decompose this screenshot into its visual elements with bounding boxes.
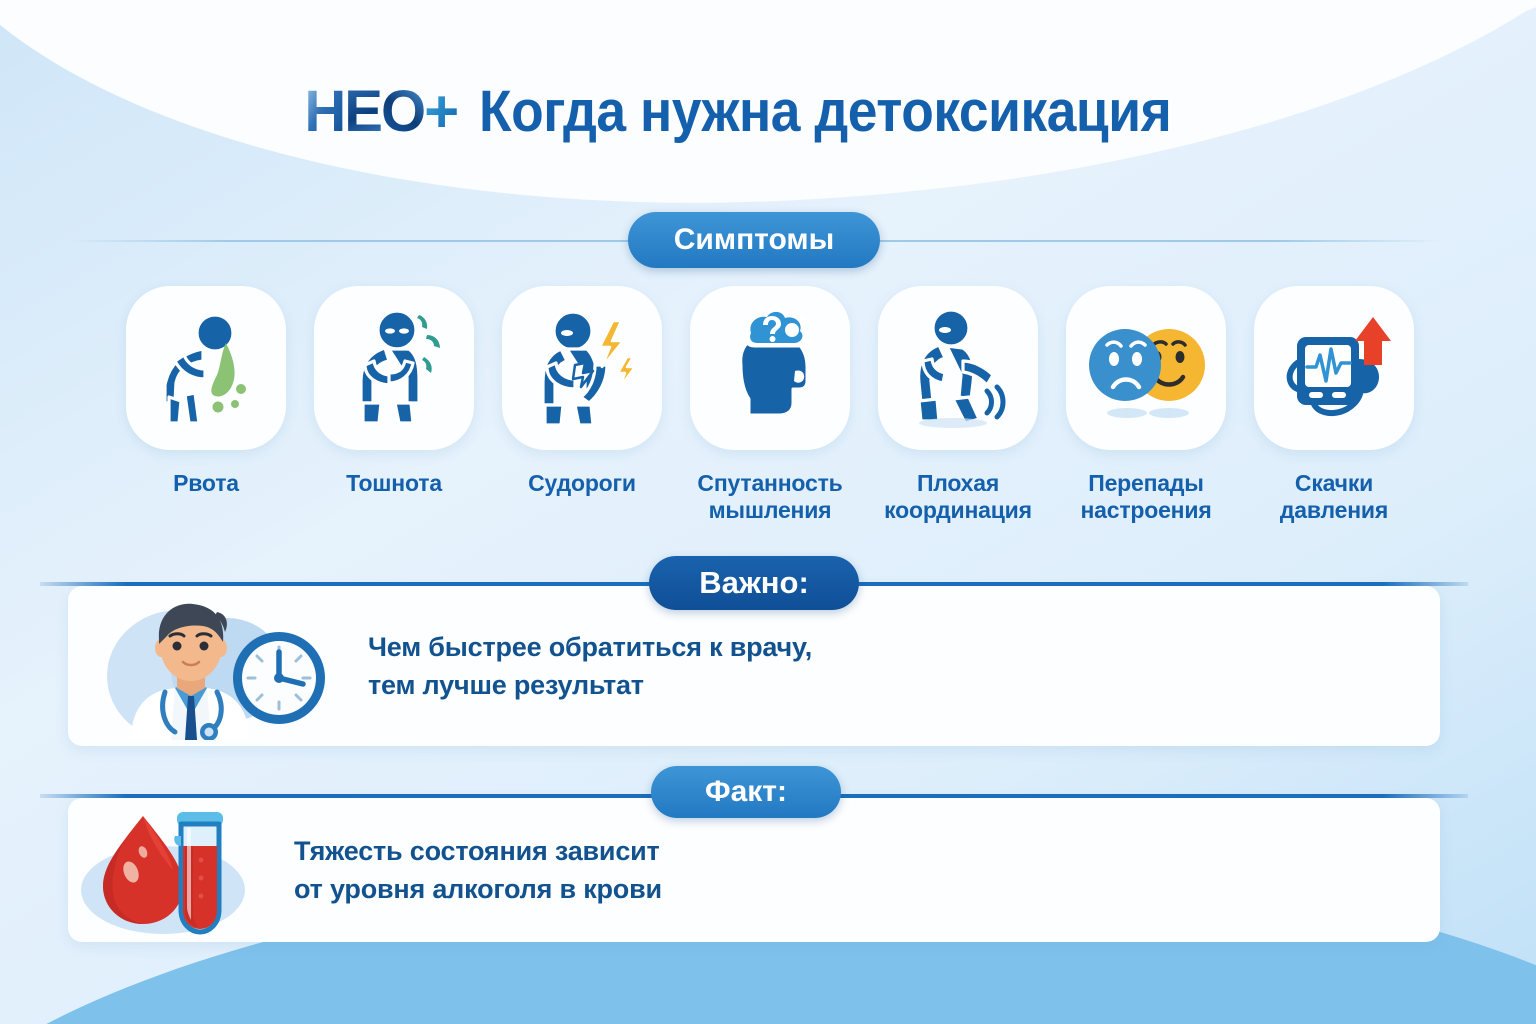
important-text-line2: тем лучше результат: [368, 670, 644, 700]
symptom-label-line2: координация: [884, 497, 1032, 523]
symptoms-list: Рвота: [120, 286, 1420, 524]
symptom-item-cramps[interactable]: Судороги: [496, 286, 668, 524]
symptom-card: [878, 286, 1038, 450]
symptom-label: Спутанность мышления: [697, 470, 842, 524]
important-text: Чем быстрее обратиться к врачу, тем лучш…: [368, 628, 812, 705]
doctor-with-clock-illustration: [84, 591, 344, 741]
blood-pressure-monitor-icon: [1269, 303, 1399, 433]
symptom-item-blood-pressure[interactable]: Скачки давления: [1248, 286, 1420, 524]
confused-head-icon: [705, 303, 835, 433]
fact-text-line2: от уровня алкоголя в крови: [294, 874, 662, 904]
logo-plus-icon: +: [424, 82, 457, 142]
mood-swings-faces-icon: [1081, 303, 1211, 433]
important-card: Чем быстрее обратиться к врачу, тем лучш…: [68, 586, 1440, 746]
blood-drop-and-test-tube-illustration: [72, 800, 272, 940]
symptom-label: Скачки давления: [1280, 470, 1388, 524]
symptom-card: [502, 286, 662, 450]
symptom-label-line2: настроения: [1080, 497, 1211, 523]
symptom-item-bad-coordination[interactable]: Плохая координация: [872, 286, 1044, 524]
symptom-card: [1066, 286, 1226, 450]
logo-letter-n: Н: [304, 83, 344, 141]
nausea-person-icon: [329, 303, 459, 433]
up-arrow-icon: [1355, 317, 1391, 365]
symptom-card: [1254, 286, 1414, 450]
symptom-label: Тошнота: [346, 470, 442, 497]
symptom-card: [314, 286, 474, 450]
symptoms-section-header: Симптомы: [68, 212, 1440, 268]
fact-section-header: Факт:: [60, 766, 1432, 818]
symptoms-badge: Симптомы: [628, 212, 880, 268]
page-header: НЕО+ Когда нужна детоксикация: [0, 78, 1536, 145]
symptom-label: Плохая координация: [884, 470, 1032, 524]
vomiting-person-icon: [141, 303, 271, 433]
symptom-item-mood-swings[interactable]: Перепады настроения: [1060, 286, 1232, 524]
fact-badge: Факт:: [651, 766, 841, 818]
symptom-label-line1: Скачки: [1295, 470, 1373, 496]
symptom-item-vomiting[interactable]: Рвота: [120, 286, 292, 524]
symptom-label-line1: Плохая: [917, 470, 999, 496]
symptom-label-line1: Спутанность: [697, 470, 842, 496]
symptom-label-line2: давления: [1280, 497, 1388, 523]
symptom-label-line2: мышления: [709, 497, 832, 523]
fact-text: Тяжесть состояния зависит от уровня алко…: [294, 832, 662, 909]
sad-face-icon: [1089, 329, 1161, 401]
fact-text-line1: Тяжесть состояния зависит: [294, 836, 660, 866]
thought-cloud-icon: [747, 309, 808, 345]
important-section-header: Важно:: [68, 556, 1440, 610]
motion-lines-icon: [987, 387, 1003, 417]
fact-card: Тяжесть состояния зависит от уровня алко…: [68, 798, 1440, 942]
symptom-label: Перепады настроения: [1080, 470, 1211, 524]
symptom-item-nausea[interactable]: Тошнота: [308, 286, 480, 524]
symptom-card: [690, 286, 850, 450]
infographic-root: НЕО+ Когда нужна детоксикация Симптомы: [0, 0, 1536, 1024]
symptom-label-line1: Перепады: [1088, 470, 1204, 496]
symptom-label: Рвота: [173, 470, 239, 497]
symptom-label: Судороги: [528, 470, 636, 497]
fact-card-content: Тяжесть состояния зависит от уровня алко…: [68, 798, 1440, 942]
page-title: Когда нужна детоксикация: [479, 78, 1171, 145]
important-card-content: Чем быстрее обратиться к врачу, тем лучш…: [68, 586, 1440, 746]
important-badge: Важно:: [649, 556, 859, 610]
brand-logo: НЕО+: [304, 82, 457, 142]
logo-letter-e: Е: [344, 83, 381, 141]
bad-coordination-person-icon: [893, 303, 1023, 433]
logo-letter-o: О: [381, 83, 424, 141]
important-text-line1: Чем быстрее обратиться к врачу,: [368, 632, 812, 662]
symptom-item-confusion[interactable]: Спутанность мышления: [684, 286, 856, 524]
symptom-card: [126, 286, 286, 450]
cramps-person-icon: [517, 303, 647, 433]
